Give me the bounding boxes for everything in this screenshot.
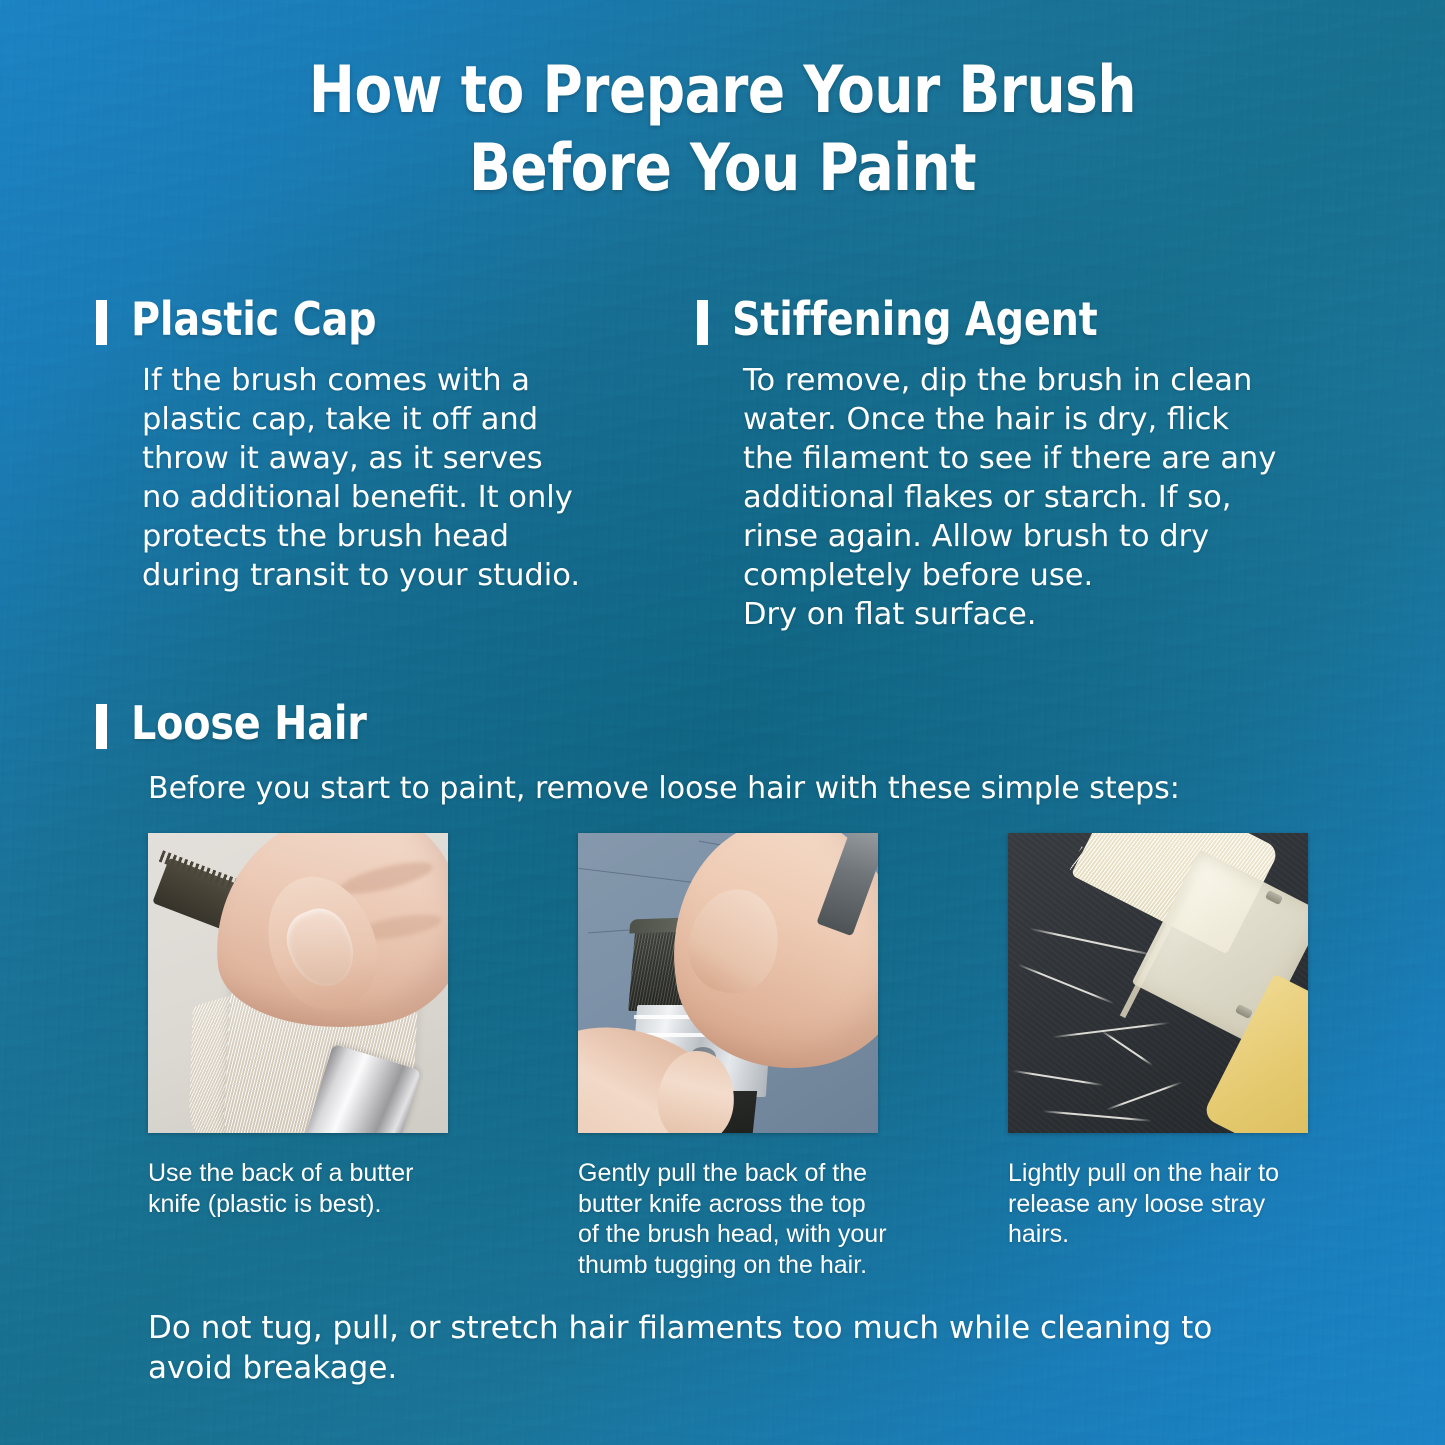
caption-line: Use the back of a butter [148, 1158, 448, 1189]
caption-line: knife (plastic is best). [148, 1189, 448, 1220]
step-photo-loose-stray-hairs [1008, 833, 1308, 1133]
section-plastic-cap: Plastic Cap If the brush comes with a pl… [96, 296, 656, 595]
section-title-text: Loose Hair [131, 700, 367, 747]
infographic-poster: How to Prepare Your Brush Before You Pai… [0, 0, 1445, 1445]
step-photo-alt-2: Hand pulling a knife across the top of a… [578, 1280, 579, 1281]
section-body-stiffening-agent: To remove, dip the brush in clean water.… [697, 361, 1337, 634]
caption-line: hairs. [1008, 1219, 1308, 1250]
accent-bar-icon [697, 300, 708, 345]
step-photo-pull-knife-across [578, 833, 878, 1133]
title-line-2: Before You Paint [43, 130, 1401, 208]
step-photo-butter-knife-back [148, 833, 448, 1133]
body-line: To remove, dip the brush in clean [743, 361, 1337, 400]
body-line: completely before use. [743, 556, 1337, 595]
caption-line: of the brush head, with your [578, 1219, 878, 1250]
body-line: If the brush comes with a [142, 361, 656, 400]
section-heading-loose-hair: Loose Hair [96, 700, 1356, 749]
section-title-text: Plastic Cap [131, 296, 376, 343]
step-caption-1: Use the back of a butter knife (plastic … [148, 1158, 448, 1219]
body-line: protects the brush head [142, 517, 656, 556]
step-card-3: Lightly pull on the hair to release any … [1008, 833, 1308, 1280]
step-caption-3: Lightly pull on the hair to release any … [1008, 1158, 1308, 1250]
step-caption-2: Gently pull the back of the butter knife… [578, 1158, 878, 1280]
caption-line: release any loose stray [1008, 1189, 1308, 1220]
body-line: rinse again. Allow brush to dry [743, 517, 1337, 556]
section-heading-stiffening-agent: Stiffening Agent [697, 296, 1337, 345]
body-line: during transit to your studio. [142, 556, 656, 595]
body-line: the filament to see if there are any [743, 439, 1337, 478]
accent-bar-icon [96, 704, 107, 749]
title-line-1: How to Prepare Your Brush [43, 52, 1401, 130]
caption-line: Gently pull the back of the [578, 1158, 878, 1189]
section-body-plastic-cap: If the brush comes with a plastic cap, t… [96, 361, 656, 595]
section-title-text: Stiffening Agent [732, 296, 1098, 343]
body-line: water. Once the hair is dry, flick [743, 400, 1337, 439]
step-photo-strip: Use the back of a butter knife (plastic … [148, 833, 1308, 1280]
body-line: no additional benefit. It only [142, 478, 656, 517]
accent-bar-icon [96, 300, 107, 345]
body-line: throw it away, as it serves [142, 439, 656, 478]
section-loose-hair: Loose Hair Before you start to paint, re… [96, 700, 1356, 806]
caption-line: butter knife across the top [578, 1189, 878, 1220]
step-photo-alt-3: Cream bristle brush with yellow wooden h… [1008, 1250, 1009, 1251]
loose-hair-intro-text: Before you start to paint, remove loose … [96, 771, 1356, 806]
footer-warning-text: Do not tug, pull, or stretch hair filame… [148, 1308, 1348, 1389]
step-card-1: Use the back of a butter knife (plastic … [148, 833, 448, 1280]
body-line: additional flakes or starch. If so, [743, 478, 1337, 517]
step-card-2: Gently pull the back of the butter knife… [578, 833, 878, 1280]
caption-line: thumb tugging on the hair. [578, 1250, 878, 1281]
caption-line: Lightly pull on the hair to [1008, 1158, 1308, 1189]
section-stiffening-agent: Stiffening Agent To remove, dip the brus… [697, 296, 1337, 634]
page-title: How to Prepare Your Brush Before You Pai… [43, 52, 1401, 208]
body-line: Dry on flat surface. [743, 595, 1337, 634]
footer-line: avoid breakage. [148, 1348, 1348, 1388]
body-line: plastic cap, take it off and [142, 400, 656, 439]
section-heading-plastic-cap: Plastic Cap [96, 296, 656, 345]
footer-line: Do not tug, pull, or stretch hair filame… [148, 1308, 1348, 1348]
step-photo-alt-1: Hand holding a dark serrated butter knif… [148, 1219, 149, 1220]
